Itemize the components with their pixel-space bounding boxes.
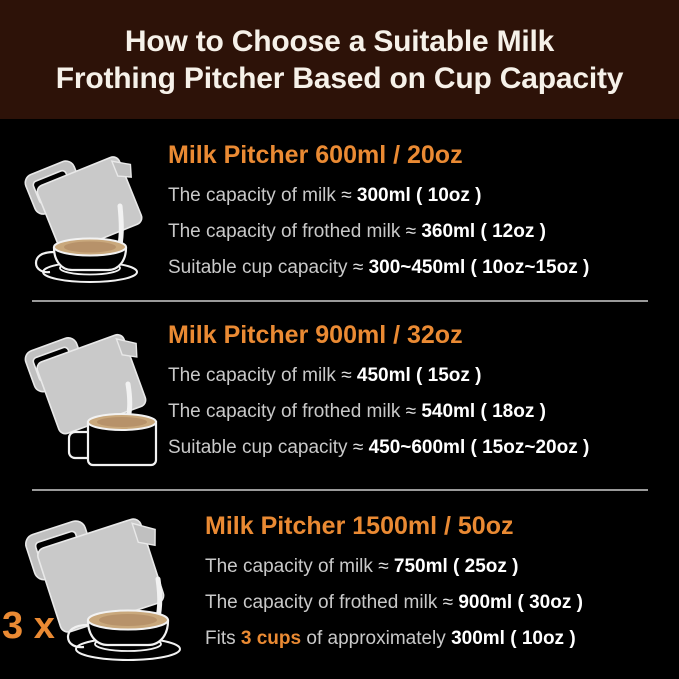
row-value: 540ml ( 18oz ): [421, 401, 546, 422]
text-block-pitcher-1500ml: Milk Pitcher 1500ml / 50oz The capacity …: [205, 497, 679, 649]
page-title-line-1: How to Choose a Suitable Milk: [125, 23, 554, 60]
section-heading: Milk Pitcher 1500ml / 50oz: [205, 511, 679, 541]
section-heading: Milk Pitcher 900ml / 32oz: [168, 320, 679, 350]
illustration-pitcher-900ml: [0, 306, 168, 474]
approx-symbol: ≈: [406, 221, 416, 242]
section-pitcher-900ml: Milk Pitcher 900ml / 32oz The capacity o…: [0, 306, 679, 474]
row-fits-cups: Fits 3 cups of approximately 300ml ( 10o…: [205, 628, 679, 649]
section-pitcher-600ml: Milk Pitcher 600ml / 20oz The capacity o…: [0, 126, 679, 290]
text-block-pitcher-600ml: Milk Pitcher 600ml / 20oz The capacity o…: [168, 126, 679, 278]
row-label: The capacity of frothed milk: [205, 592, 437, 613]
row-label: Suitable cup capacity: [168, 257, 348, 278]
approx-symbol: ≈: [353, 257, 363, 278]
approx-symbol: ≈: [378, 556, 388, 577]
approx-symbol: ≈: [341, 185, 351, 206]
multiplier-label: 3 x: [2, 607, 55, 645]
row-suitable-cup-capacity: Suitable cup capacity ≈ 450~600ml ( 15oz…: [168, 437, 679, 458]
approx-symbol: ≈: [341, 365, 351, 386]
illustration-pitcher-600ml: [0, 126, 168, 290]
row-capacity-of-milk: The capacity of milk ≈ 750ml ( 25oz ): [205, 556, 679, 577]
infographic-root: How to Choose a Suitable Milk Frothing P…: [0, 0, 679, 679]
row-capacity-of-frothed-milk: The capacity of frothed milk ≈ 360ml ( 1…: [168, 221, 679, 242]
text-block-pitcher-900ml: Milk Pitcher 900ml / 32oz The capacity o…: [168, 306, 679, 458]
row-label: The capacity of frothed milk: [168, 401, 400, 422]
row-label: Suitable cup capacity: [168, 437, 348, 458]
row-capacity-of-frothed-milk: The capacity of frothed milk ≈ 540ml ( 1…: [168, 401, 679, 422]
row-value: 300ml ( 10oz ): [357, 185, 482, 206]
row-label: The capacity of milk: [205, 556, 373, 577]
row-capacity-of-milk: The capacity of milk ≈ 300ml ( 10oz ): [168, 185, 679, 206]
row-label: The capacity of milk: [168, 365, 336, 386]
approx-symbol: ≈: [353, 437, 363, 458]
row-value: 750ml ( 25oz ): [394, 556, 519, 577]
row-value: 300ml ( 10oz ): [451, 628, 576, 649]
row-capacity-of-frothed-milk: The capacity of frothed milk ≈ 900ml ( 3…: [205, 592, 679, 613]
section-pitcher-1500ml: 3 x Milk Pitcher 1500ml / 50oz The capac…: [0, 497, 679, 669]
section-heading: Milk Pitcher 600ml / 20oz: [168, 140, 679, 170]
approx-symbol: ≈: [443, 592, 453, 613]
row-capacity-of-milk: The capacity of milk ≈ 450ml ( 15oz ): [168, 365, 679, 386]
page-title-line-2: Frothing Pitcher Based on Cup Capacity: [56, 60, 623, 97]
row-label-suffix: of approximately: [306, 628, 445, 649]
row-label-prefix: Fits: [205, 628, 236, 649]
milk-pitcher-pouring-into-mug-icon: [18, 314, 164, 470]
row-value: 300~450ml ( 10oz~15oz ): [369, 257, 590, 278]
row-label: The capacity of frothed milk: [168, 221, 400, 242]
row-value: 900ml ( 30oz ): [458, 592, 583, 613]
row-value: 450ml ( 15oz ): [357, 365, 482, 386]
milk-pitcher-pouring-into-cup-and-saucer-icon: [18, 134, 164, 284]
approx-symbol: ≈: [406, 401, 416, 422]
row-value: 450~600ml ( 15oz~20oz ): [369, 437, 590, 458]
section-divider-1: [32, 300, 648, 302]
row-suitable-cup-capacity: Suitable cup capacity ≈ 300~450ml ( 10oz…: [168, 257, 679, 278]
section-divider-2: [32, 489, 648, 491]
row-label: The capacity of milk: [168, 185, 336, 206]
illustration-pitcher-1500ml: 3 x: [0, 497, 205, 669]
row-value: 360ml ( 12oz ): [421, 221, 546, 242]
header-banner: How to Choose a Suitable Milk Frothing P…: [0, 0, 679, 119]
row-highlight-cups: 3 cups: [241, 628, 301, 649]
